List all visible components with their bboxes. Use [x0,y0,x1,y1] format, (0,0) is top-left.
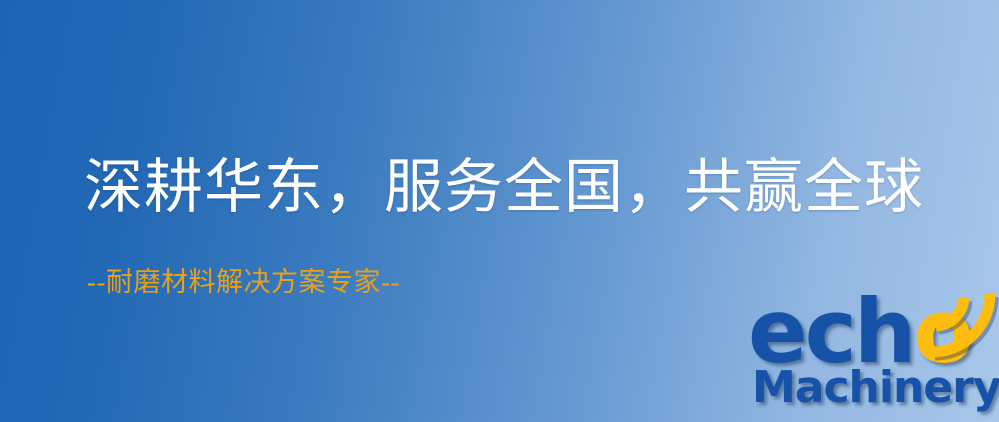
logo-tagline-text: Machinery [752,362,999,413]
banner-headline: 深耕华东，服务全国，共赢全球 [84,152,924,222]
promotional-banner: 深耕华东，服务全国，共赢全球 --耐磨材料解决方案专家-- echo Machi… [0,0,999,422]
signal-arcs-icon [926,288,999,364]
echo-machinery-logo[interactable]: echo Machinery® [744,292,999,422]
banner-subtitle: --耐磨材料解决方案专家-- [87,265,400,299]
logo-tagline-machinery: Machinery® [752,366,999,410]
